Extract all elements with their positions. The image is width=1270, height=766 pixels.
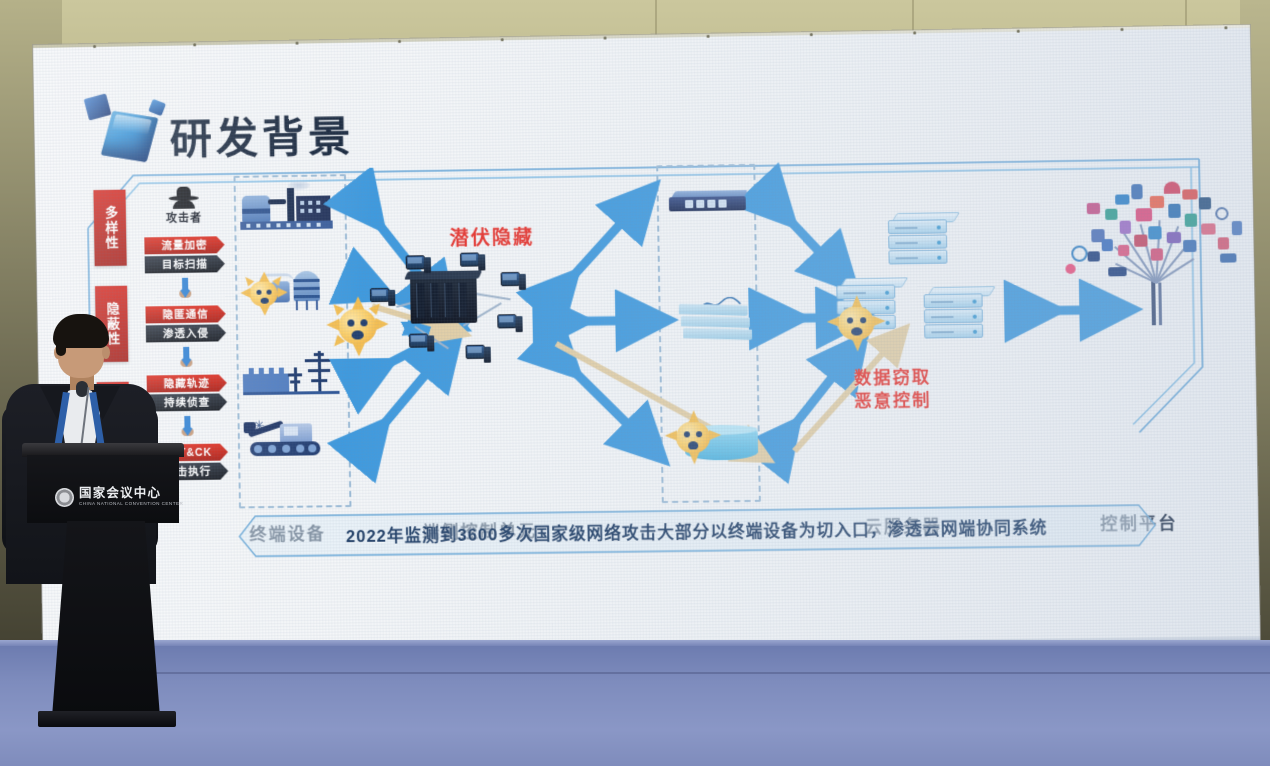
blue-cube-icon [84,95,175,168]
slide-title: 研发背景 [169,116,354,161]
power-grid-icon [242,351,343,398]
led-display-screen: 研发背景 多样性 隐蔽性 动态性 [33,25,1260,660]
chemical-plant-icon [241,264,342,316]
annotation-malicious-control: 恶意控制 [854,390,931,414]
spy-hat-icon [168,178,198,202]
virus-icon-center [328,298,387,355]
venue-name-cn: 国家会议中心 [79,487,183,500]
architecture-diagram: 多样性 隐蔽性 动态性 攻击者 流量加密 目标扫描 隐匿通信 [85,155,1207,534]
attribute-bar-diversity: 多样性 [93,190,126,267]
attacker-node: 攻击者 [155,178,212,226]
data-pool-icon [670,411,758,468]
lectern-podium: 国家会议中心 CHINA NATIONAL CONVENTION CENTER [22,443,184,743]
factory-icon [240,184,341,234]
chain-action-1: 目标扫描 [145,255,225,273]
computer-network-cluster-icon [355,252,538,385]
attacker-label: 攻击者 [156,209,212,226]
excavator-icon: ✳ [244,417,345,462]
virus-icon-pool [666,412,719,463]
workstation-icon [406,255,432,275]
network-switch-icon [669,188,746,213]
annotation-data-theft-group: 数据窃取 恶意控制 [854,367,932,414]
workstation-icon [501,272,528,292]
workstation-icon [497,314,524,334]
chain-technique-1: 流量加密 [144,236,224,254]
conference-room-scene: 研发背景 多样性 隐蔽性 动态性 [0,0,1270,766]
chain-arrow-1 [179,278,191,298]
network-layers-icon [679,301,757,346]
workstation-icon [460,252,487,272]
workstation-icon [465,345,492,365]
server-rack-icon [410,277,477,324]
slide-title-text: 研发背景 [169,116,354,161]
presentation-slide: 研发背景 多样性 隐蔽性 动态性 [33,25,1260,660]
venue-logo-mark [55,488,74,507]
workstation-icon [409,333,435,353]
iot-tree-icon [1056,180,1260,334]
virus-icon-terminal [241,273,286,314]
virus-icon-server [828,297,884,350]
annotation-data-theft: 数据窃取 [854,367,931,391]
annotation-latent-hiding: 潜伏隐藏 [449,226,534,253]
venue-name-en: CHINA NATIONAL CONVENTION CENTER [79,502,183,507]
venue-logo: 国家会议中心 CHINA NATIONAL CONVENTION CENTER [55,481,173,513]
